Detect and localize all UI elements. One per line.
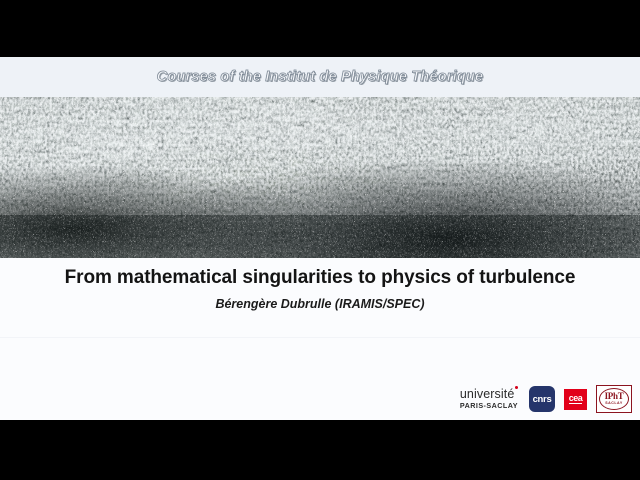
cea-wordmark: cea <box>569 394 583 405</box>
series-header-band: Courses of the Institut de Physique Théo… <box>0 57 640 97</box>
ups-subtitle: PARIS-SACLAY <box>460 402 518 409</box>
ipht-subtitle: SACLAY <box>605 402 622 406</box>
series-title: Courses of the Institut de Physique Théo… <box>157 69 483 85</box>
ipht-saclay-logo: IPhT SACLAY <box>596 385 632 413</box>
title-block: From mathematical singularities to physi… <box>0 258 640 311</box>
letterbox-bar-bottom <box>0 420 640 480</box>
ipht-oval-frame: IPhT SACLAY <box>599 388 629 410</box>
presentation-slide: Courses of the Institut de Physique Théo… <box>0 57 640 420</box>
video-frame: Courses of the Institut de Physique Théo… <box>0 0 640 480</box>
divider-line <box>0 337 640 338</box>
ups-accent-dot <box>515 386 518 389</box>
ups-wordmark: université <box>460 388 515 401</box>
presenter-affiliation: Bérengère Dubrulle (IRAMIS/SPEC) <box>0 289 640 311</box>
letterbox-bar-top <box>0 0 640 57</box>
presentation-title: From mathematical singularities to physi… <box>0 258 640 289</box>
universite-paris-saclay-logo: université PARIS-SACLAY <box>460 388 520 409</box>
cea-logo: cea <box>564 389 587 410</box>
cnrs-logo: cnrs <box>529 386 555 412</box>
turbulent-water-photograph <box>0 97 640 258</box>
cnrs-wordmark: cnrs <box>533 394 552 405</box>
sponsor-logo-strip: université PARIS-SACLAY cnrs cea IPhT SA… <box>460 383 632 415</box>
